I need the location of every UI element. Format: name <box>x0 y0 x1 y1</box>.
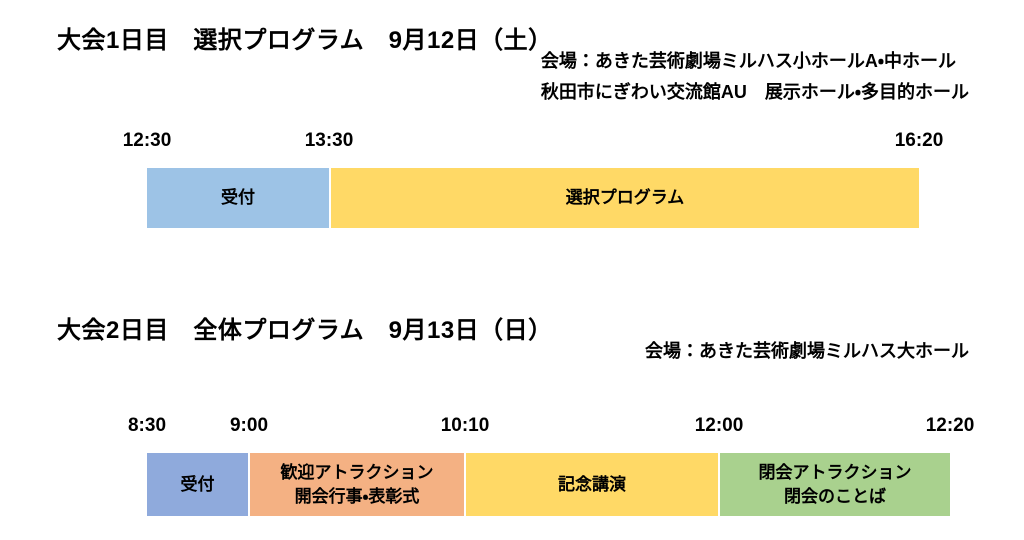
day-2-venue-line-1: 会場：あきた芸術劇場ミルハス大ホール <box>645 336 969 367</box>
day-2-segment-reception-label: 受付 <box>177 473 219 496</box>
day-1-heading: 大会1日目 選択プログラム 9月12日（土） <box>57 26 553 56</box>
day-1-segment-reception: 受付 <box>147 168 329 228</box>
day-2-tick-0830: 8:30 <box>128 415 166 437</box>
day-2-tick-0900: 9:00 <box>230 415 268 437</box>
day-2-tick-row: 8:30 9:00 10:10 12:00 12:20 <box>0 415 1024 445</box>
schedule-page: 大会1日目 選択プログラム 9月12日（土） 会場：あきた芸術劇場ミルハス小ホー… <box>0 0 1024 540</box>
day-2-heading: 大会2日目 全体プログラム 9月13日（日） <box>57 316 553 346</box>
day-2-tick-1200: 12:00 <box>695 415 744 437</box>
day-1-bar-row: 受付 選択プログラム <box>0 168 1024 232</box>
day-1-venue-line-2: 秋田市にぎわい交流館AU 展示ホール・多目的ホール <box>541 77 969 108</box>
day-1-venue-line-1: 会場：あきた芸術劇場ミルハス小ホールA・中ホール <box>541 46 969 77</box>
day-2-segment-memorial-lecture: 記念講演 <box>466 453 718 516</box>
day-1-segment-elective-program: 選択プログラム <box>331 168 919 228</box>
day-1-tick-row: 12:30 13:30 16:20 <box>0 130 1024 160</box>
day-2-segment-welcome-attraction: 歓迎アトラクション 開会行事・表彰式 <box>250 453 464 516</box>
day-1-segment-elective-program-label: 選択プログラム <box>562 186 689 209</box>
day-2-tick-1220: 12:20 <box>926 415 975 437</box>
day-2-segment-memorial-lecture-label: 記念講演 <box>554 473 630 496</box>
day-2-bar-row: 受付 歓迎アトラクション 開会行事・表彰式 記念講演 閉会アトラクション 閉会の… <box>0 453 1024 517</box>
day-1-tick-1330: 13:30 <box>305 130 354 152</box>
day-2-venue-list: 会場：あきた芸術劇場ミルハス大ホール <box>645 336 969 367</box>
day-2-segment-reception: 受付 <box>147 453 248 516</box>
day-2-segment-welcome-attraction-label: 歓迎アトラクション 開会行事・表彰式 <box>277 461 438 508</box>
day-1-timeline: 12:30 13:30 16:20 受付 選択プログラム <box>0 130 1024 232</box>
day-1-venue-list: 会場：あきた芸術劇場ミルハス小ホールA・中ホール 秋田市にぎわい交流館AU 展示… <box>541 46 969 108</box>
day-2-segment-closing-attraction-label: 閉会アトラクション 閉会のことば <box>755 461 916 508</box>
day-2-segment-closing-attraction: 閉会アトラクション 閉会のことば <box>720 453 950 516</box>
day-2-timeline: 8:30 9:00 10:10 12:00 12:20 受付 歓迎アトラクション… <box>0 415 1024 517</box>
day-1-tick-1230: 12:30 <box>123 130 172 152</box>
day-1-segment-reception-label: 受付 <box>217 186 259 209</box>
day-2-tick-1010: 10:10 <box>441 415 490 437</box>
day-1-tick-1620: 16:20 <box>895 130 944 152</box>
